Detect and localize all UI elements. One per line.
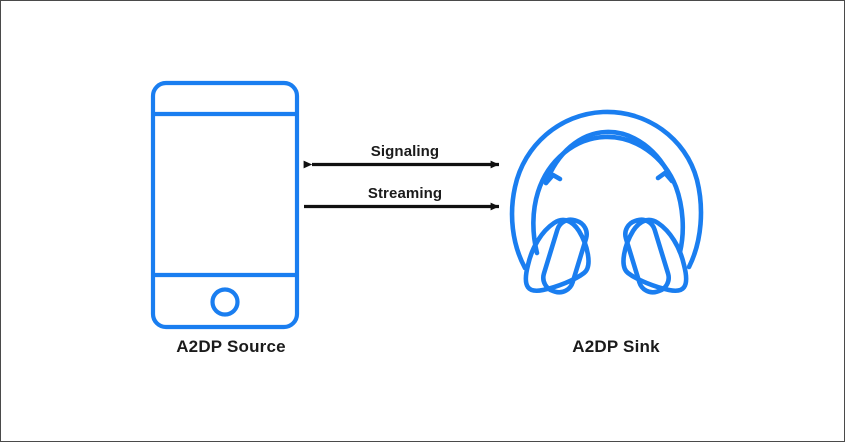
streaming-label: Streaming (304, 185, 506, 202)
diagram-container: Signaling Streaming A2DP Source A2DP Sin… (0, 0, 845, 442)
smartphone-icon (153, 83, 297, 327)
headphones-icon (512, 112, 701, 296)
a2dp-source-label: A2DP Source (81, 337, 381, 357)
signaling-label: Signaling (304, 143, 506, 160)
a2dp-sink-label: A2DP Sink (466, 337, 766, 357)
diagram-canvas (1, 1, 844, 441)
